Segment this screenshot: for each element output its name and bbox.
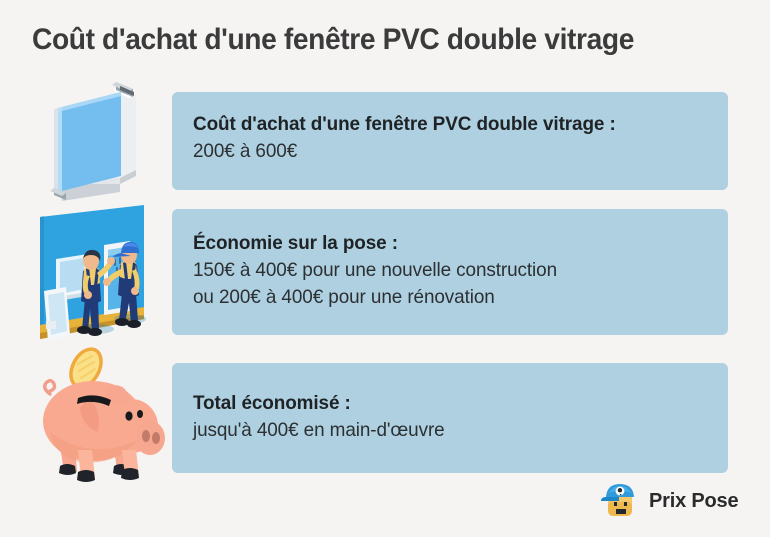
- brand-name: Prix Pose: [649, 490, 738, 513]
- cost-card-purchase: Coût d'achat d'une fenêtre PVC double vi…: [172, 92, 728, 190]
- card-heading: Économie sur la pose :: [193, 230, 696, 257]
- infographic-root: Coût d'achat d'une fenêtre PVC double vi…: [0, 0, 770, 537]
- card-heading: Total économisé :: [193, 390, 696, 417]
- card-line: 200€ à 600€: [193, 138, 696, 165]
- brand-logo[interactable]: Prix Pose: [600, 478, 752, 524]
- capped-character-logo-icon: [600, 480, 640, 522]
- card-heading: Coût d'achat d'une fenêtre PVC double vi…: [193, 111, 696, 138]
- piggy-bank-icon: [26, 342, 174, 490]
- card-line: jusqu'à 400€ en main-d'œuvre: [193, 417, 696, 444]
- cost-card-installation-saving: Économie sur la pose : 150€ à 400€ pour …: [172, 209, 728, 335]
- installers-workers-icon: [26, 203, 172, 343]
- window-double-glazing-icon: [36, 80, 166, 202]
- card-line: 150€ à 400€ pour une nouvelle constructi…: [193, 257, 696, 284]
- card-line: ou 200€ à 400€ pour une rénovation: [193, 284, 696, 311]
- page-title: Coût d'achat d'une fenêtre PVC double vi…: [32, 22, 710, 58]
- cost-card-total-saved: Total économisé : jusqu'à 400€ en main-d…: [172, 363, 728, 473]
